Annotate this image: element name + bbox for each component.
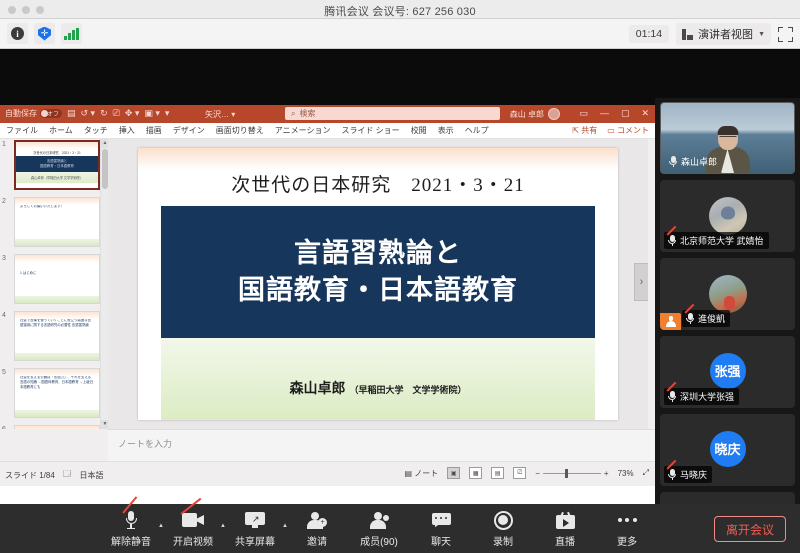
window-title: 腾讯会议 会议号: 627 256 030 (0, 3, 800, 19)
meeting-top-toolbar: i ✛ 01:14 演讲者视图 ▼ (0, 19, 800, 49)
start-video-label: 开启视频 (162, 533, 224, 548)
thumb-header-band (15, 426, 99, 429)
unmute-button[interactable]: 解除静音 ▲ (100, 509, 162, 548)
status-right: ▤ ノート ▣ ▦ ▤ ⎚ − + 73% ⤢ (404, 467, 649, 479)
touch-icon[interactable]: ✥ ▾ (125, 108, 140, 119)
microphone-icon (669, 156, 677, 167)
slide-thumbnail-6[interactable]: ライフスキーム は重要 (14, 425, 100, 429)
participant-namebar: 马晓庆 (664, 466, 712, 483)
meeting-toolbar-right: 01:14 演讲者视图 ▼ (629, 23, 793, 45)
thumb-header-band (15, 312, 99, 319)
camera-off-icon (182, 513, 204, 527)
live-broadcast-button[interactable]: 直播 (534, 509, 596, 548)
participant-namebar: 進俊凱 (682, 310, 730, 327)
undo-icon[interactable]: ↺ ▾ (81, 108, 96, 119)
thumb-footer-band (15, 296, 99, 303)
more-label: 更多 (596, 533, 658, 548)
slide-thumbnail-pane[interactable]: 1 次世代の日本研究 2021・3・21 言語習熟論と国語教育・日本語教育 森山… (0, 139, 108, 429)
powerpoint-status-bar: スライド 1/84 🗔 日本語 ▤ ノート ▣ ▦ ▤ ⎚ − + 73% (0, 461, 655, 486)
unmute-label: 解除静音 (100, 533, 162, 548)
thumb-header-band (15, 369, 99, 376)
shared-content-stage: 自動保存 オフ ▤ ↺ ▾ ↻ ⎚ ✥ ▾ ▣ ▾ ▾ 矢沢… ▾ ⌕ 検索 (0, 49, 800, 504)
notes-toggle-button[interactable]: ▤ ノート (404, 468, 438, 479)
microphone-muted-icon (668, 391, 676, 402)
thumbnail-row[interactable]: 4 社会で言葉を使っていくことに役立つ高度な言語運用に関する言語研究の必要性 言… (0, 310, 108, 364)
autosave-state: オフ (47, 109, 59, 118)
participant-tile-1[interactable]: 北京师范大学 武婧怡 (660, 180, 795, 252)
leave-meeting-button[interactable]: 离开会议 (714, 516, 786, 542)
save-icon[interactable]: ▤ (67, 108, 76, 119)
meeting-controls: 解除静音 ▲ 开启视频 ▲ ↗ 共享屏幕 ▲ + 邀请 成员(90) (100, 509, 658, 548)
language-indicator[interactable]: 日本語 (79, 470, 103, 481)
mac-window-titlebar: 腾讯会议 会议号: 627 256 030 (0, 0, 800, 19)
tab-transitions[interactable]: 画面切り替え (216, 125, 264, 136)
thumb-title-band: 言語習熟論と国語教育・日本語教育 (16, 156, 98, 172)
autosave-label: 自動保存 (5, 108, 37, 119)
tab-animations[interactable]: アニメーション (275, 125, 331, 136)
thumb-header-text: 次世代の日本研究 2021・3・21 (16, 149, 98, 156)
powerpoint-workspace: 1 次世代の日本研究 2021・3・21 言語習熟論と国語教育・日本語教育 森山… (0, 139, 655, 486)
slide-thumbnail-1[interactable]: 次世代の日本研究 2021・3・21 言語習熟論と国語教育・日本語教育 森山卓郎… (14, 140, 100, 190)
participant-photo (709, 275, 747, 313)
chat-icon (432, 513, 451, 528)
network-signal-button[interactable] (61, 23, 82, 44)
thumb-header-band (16, 142, 98, 149)
thumb-footer-band (15, 239, 99, 246)
slide-top-gradient (138, 148, 618, 170)
comments-button[interactable]: ▭ コメント (607, 125, 649, 136)
participant-photo (709, 197, 747, 235)
participant-name: 北京师范大学 武婧怡 (680, 234, 764, 247)
participant-namebar: 森山卓郎 (665, 153, 722, 170)
tab-slideshow[interactable]: スライド ショー (341, 125, 399, 136)
fullscreen-icon[interactable] (778, 27, 793, 42)
thumb-footer-band (15, 353, 99, 360)
status-left: スライド 1/84 🗔 日本語 (5, 468, 103, 482)
filename-chevron-icon: ▾ (231, 110, 235, 119)
customize-icon[interactable]: ▣ ▾ (144, 108, 160, 119)
share-button[interactable]: ⇱ 共有 (572, 125, 597, 136)
participant-tile-4[interactable]: 晓庆 马晓庆 (660, 414, 795, 486)
reading-view-icon[interactable]: ▤ (491, 467, 504, 479)
microphone-muted-icon (668, 235, 676, 246)
qat-overflow-icon[interactable]: ▾ (165, 108, 170, 119)
slide-thumbnail-3[interactable]: 1 はじめに (14, 254, 100, 304)
search-icon: ⌕ (291, 109, 295, 119)
slide-bottom-band: 森山卓郎 （早稲田大学 文学学術院） (161, 338, 595, 420)
share-screen-icon: ↗ (245, 512, 265, 528)
scroll-down-icon[interactable]: ▼ (101, 420, 108, 429)
participants-icon (369, 512, 389, 529)
chat-label: 聊天 (410, 533, 472, 548)
participant-avatar-initials: 张强 (710, 353, 746, 389)
normal-view-icon[interactable]: ▣ (447, 467, 460, 479)
slide-author: 森山卓郎 (290, 380, 346, 396)
thumbnail-row[interactable]: 3 1 はじめに (0, 253, 108, 307)
participant-avatar-initials: 晓庆 (710, 431, 746, 467)
slide-number: 5 (2, 369, 6, 376)
more-button[interactable]: 更多 (596, 509, 658, 548)
zoom-handle (565, 469, 568, 478)
speaker-view-icon (682, 29, 693, 40)
autosave-control[interactable]: 自動保存 オフ (5, 108, 62, 119)
slide-header-text: 次世代の日本研究 2021・3・21 (138, 170, 618, 197)
microphone-muted-icon (125, 511, 138, 530)
invite-label: 邀请 (286, 533, 348, 548)
meeting-control-bar: 解除静音 ▲ 开启视频 ▲ ↗ 共享屏幕 ▲ + 邀请 成员(90) (0, 504, 800, 553)
participant-name: 深圳大学张强 (680, 390, 734, 403)
thumb-header-band (15, 198, 99, 205)
network-signal-icon (64, 28, 79, 40)
participants-button[interactable]: 成员(90) (348, 509, 410, 548)
meeting-info-button[interactable]: i (7, 23, 28, 44)
security-shield-icon: ✛ (38, 27, 51, 41)
encryption-shield-button[interactable]: ✛ (34, 23, 55, 44)
tab-home[interactable]: ホーム (49, 125, 73, 136)
slide-number: 2 (2, 198, 6, 205)
slide-number: 4 (2, 312, 6, 319)
quick-access-toolbar[interactable]: 自動保存 オフ ▤ ↺ ▾ ↻ ⎚ ✥ ▾ ▣ ▾ ▾ (5, 108, 169, 119)
participant-namebar: 北京师范大学 武婧怡 (664, 232, 769, 249)
slide-counter[interactable]: スライド 1/84 (5, 470, 55, 481)
thumb-footer-band (15, 410, 99, 417)
share-screen-button[interactable]: ↗ 共享屏幕 ▲ (224, 509, 286, 548)
slide-title-line2: 国語教育・日本語教育 (238, 275, 518, 305)
slide-thumbnail-4[interactable]: 社会で言葉を使っていくことに役立つ高度な言語運用に関する言語研究の必要性 言語習… (14, 311, 100, 361)
thumbnail-row[interactable]: 2 よろしくお願いいたします！ (0, 196, 108, 250)
more-icon (618, 518, 637, 522)
meeting-timer: 01:14 (629, 25, 669, 43)
tab-touch[interactable]: タッチ (84, 125, 108, 136)
participant-video-strip[interactable]: 森山卓郎 北京师范大学 武婧怡 進俊凱 (655, 98, 800, 553)
participant-namebar: 深圳大学张强 (664, 388, 739, 405)
thumbnail-scrollbar[interactable]: ▲ ▼ (100, 139, 108, 429)
share-screen-label: 共享屏幕 (224, 533, 286, 548)
participants-label: 成员(90) (348, 533, 410, 548)
powerpoint-ribbon-tabs: ファイル ホーム タッチ 挿入 描画 デザイン 画面切り替え アニメーション ス… (0, 123, 655, 139)
slide-title-line1: 言語習熟論と (294, 238, 462, 268)
record-icon (494, 511, 513, 530)
slide-thumbnail-5[interactable]: 社会を支える公器は「言語力」、それを支える言語の知識 →国語科教育、日本語教育 … (14, 368, 100, 418)
record-button[interactable]: 录制 (472, 509, 534, 548)
next-slide-button[interactable]: › (634, 263, 648, 301)
host-badge-icon (660, 313, 681, 330)
info-icon: i (11, 27, 24, 40)
zoom-in-button[interactable]: + (604, 469, 609, 478)
view-mode-selector[interactable]: 演讲者视图 ▼ (676, 23, 771, 45)
powerpoint-filename: 矢沢… ▾ (205, 109, 235, 120)
tab-draw[interactable]: 描画 (146, 125, 162, 136)
tab-view[interactable]: 表示 (438, 125, 454, 136)
chat-button[interactable]: 聊天 (410, 509, 472, 548)
redo-icon[interactable]: ↻ (100, 108, 108, 119)
slideshow-icon[interactable]: ⎚ (513, 467, 526, 479)
meeting-status-icons: i ✛ (7, 23, 82, 44)
slide-number: 6 (2, 426, 6, 429)
account-name: 森山 卓郎 (510, 109, 544, 120)
slide-thumbnail-2[interactable]: よろしくお願いいたします！ (14, 197, 100, 247)
zoom-level[interactable]: 73% (618, 469, 634, 478)
notes-pane[interactable]: ノートを入力 (108, 429, 655, 461)
maximize-icon[interactable]: ▢ (621, 108, 630, 119)
microphone-muted-icon (686, 313, 694, 324)
thumbnail-row[interactable]: 5 社会を支える公器は「言語力」、それを支える言語の知識 →国語科教育、日本語教… (0, 367, 108, 421)
current-slide[interactable]: 次世代の日本研究 2021・3・21 言語習熟論と 国語教育・日本語教育 森山卓… (138, 148, 618, 420)
zoom-track[interactable] (543, 473, 601, 474)
zoom-out-button[interactable]: − (535, 469, 540, 478)
powerpoint-window-buttons[interactable]: ▭ — ▢ ✕ (579, 108, 649, 119)
ribbon-display-icon[interactable]: ▭ (579, 108, 588, 119)
close-icon[interactable]: ✕ (641, 108, 649, 119)
tab-review[interactable]: 校閲 (411, 125, 427, 136)
search-placeholder: 検索 (299, 108, 315, 119)
thumbnail-row[interactable]: 1 次世代の日本研究 2021・3・21 言語習熟論と国語教育・日本語教育 森山… (0, 139, 108, 193)
start-video-button[interactable]: 开启视频 ▲ (162, 509, 224, 548)
slide-number: 1 (2, 141, 6, 148)
present-icon[interactable]: ⎚ (113, 108, 120, 119)
thumb-footer-text: 森山卓郎（早稲田大学 文学学術院） (16, 172, 98, 183)
powerpoint-account[interactable]: 森山 卓郎 (510, 108, 560, 120)
account-avatar-icon (548, 108, 560, 120)
microphone-muted-icon (668, 469, 676, 480)
shared-powerpoint-window: 自動保存 オフ ▤ ↺ ▾ ↻ ⎚ ✥ ▾ ▣ ▾ ▾ 矢沢… ▾ ⌕ 検索 (0, 105, 655, 508)
accessibility-icon[interactable]: 🗔 (63, 468, 72, 482)
slide-title-band: 言語習熟論と 国語教育・日本語教育 (161, 206, 595, 338)
autosave-toggle[interactable]: オフ (40, 109, 62, 118)
tab-file[interactable]: ファイル (6, 125, 38, 136)
zoom-slider[interactable]: − + (535, 469, 608, 478)
participant-tile-3[interactable]: 张强 深圳大学张强 (660, 336, 795, 408)
thumb-header-band (15, 255, 99, 262)
invite-icon: + (307, 512, 327, 529)
participant-name: 進俊凱 (698, 312, 725, 325)
record-label: 录制 (472, 533, 534, 548)
live-broadcast-icon (556, 512, 575, 529)
participant-tile-2[interactable]: 進俊凱 (660, 258, 795, 330)
chevron-down-icon: ▼ (758, 31, 765, 38)
thumbnail-row[interactable]: 6 ライフスキーム は重要 (0, 424, 108, 429)
view-mode-label: 演讲者视图 (698, 26, 753, 42)
slide-affiliation: （早稲田大学 文学学術院） (349, 385, 466, 395)
tab-insert[interactable]: 挿入 (119, 125, 135, 136)
scroll-up-icon[interactable]: ▲ (101, 139, 108, 148)
slide-number: 3 (2, 255, 6, 262)
tab-help[interactable]: ヘルプ (465, 125, 489, 136)
slide-author-line: 森山卓郎 （早稲田大学 文学学術院） (161, 378, 595, 398)
participant-name: 马晓庆 (680, 468, 707, 481)
slide-editing-area[interactable]: 次世代の日本研究 2021・3・21 言語習熟論と 国語教育・日本語教育 森山卓… (108, 139, 648, 429)
participant-name: 森山卓郎 (681, 155, 717, 168)
live-broadcast-label: 直播 (534, 533, 596, 548)
ribbon-right-actions[interactable]: ⇱ 共有 ▭ コメント (572, 125, 649, 136)
slide-sorter-icon[interactable]: ▦ (469, 467, 482, 479)
invite-button[interactable]: + 邀请 (286, 509, 348, 548)
tab-design[interactable]: デザイン (173, 125, 205, 136)
fit-to-window-icon[interactable]: ⤢ (643, 468, 649, 478)
participant-tile-0[interactable]: 森山卓郎 (660, 102, 795, 174)
powerpoint-titlebar: 自動保存 オフ ▤ ↺ ▾ ↻ ⎚ ✥ ▾ ▣ ▾ ▾ 矢沢… ▾ ⌕ 検索 (0, 105, 655, 123)
minimize-icon[interactable]: — (600, 108, 609, 119)
powerpoint-search-box[interactable]: ⌕ 検索 (285, 107, 500, 120)
ribbon-tab-list[interactable]: ファイル ホーム タッチ 挿入 描画 デザイン 画面切り替え アニメーション ス… (6, 125, 489, 136)
